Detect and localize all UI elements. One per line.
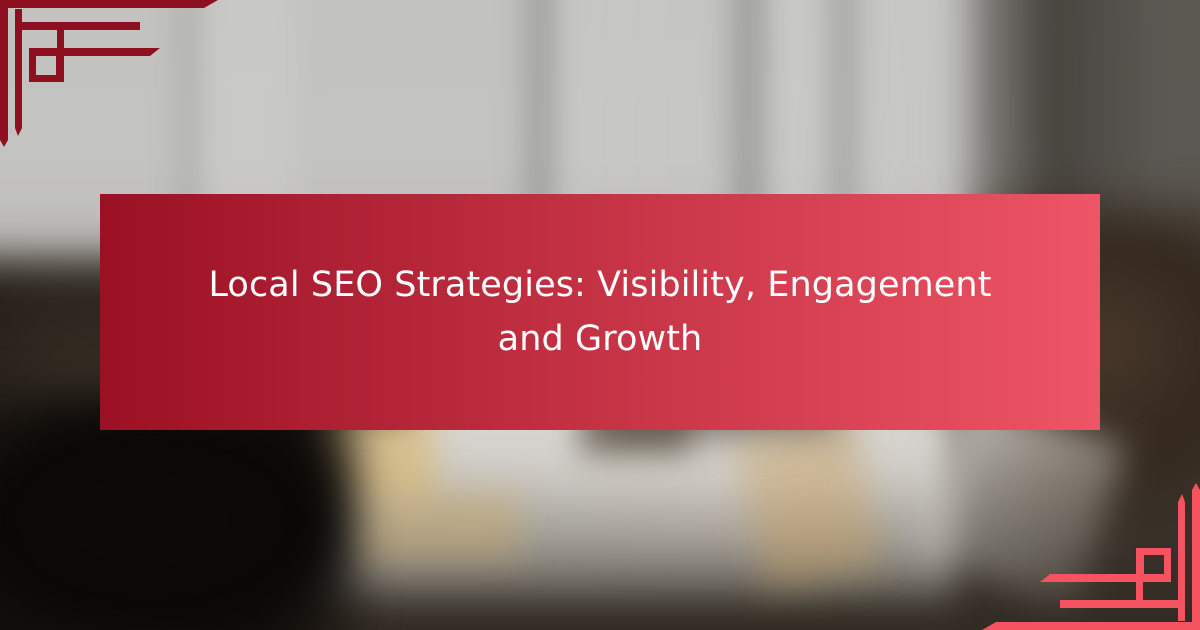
social-share-card: Local SEO Strategies: Visibility, Engage… <box>0 0 1200 630</box>
document-paper-b <box>340 490 520 560</box>
title-banner: Local SEO Strategies: Visibility, Engage… <box>100 194 1100 430</box>
page-title: Local SEO Strategies: Visibility, Engage… <box>170 258 1030 367</box>
